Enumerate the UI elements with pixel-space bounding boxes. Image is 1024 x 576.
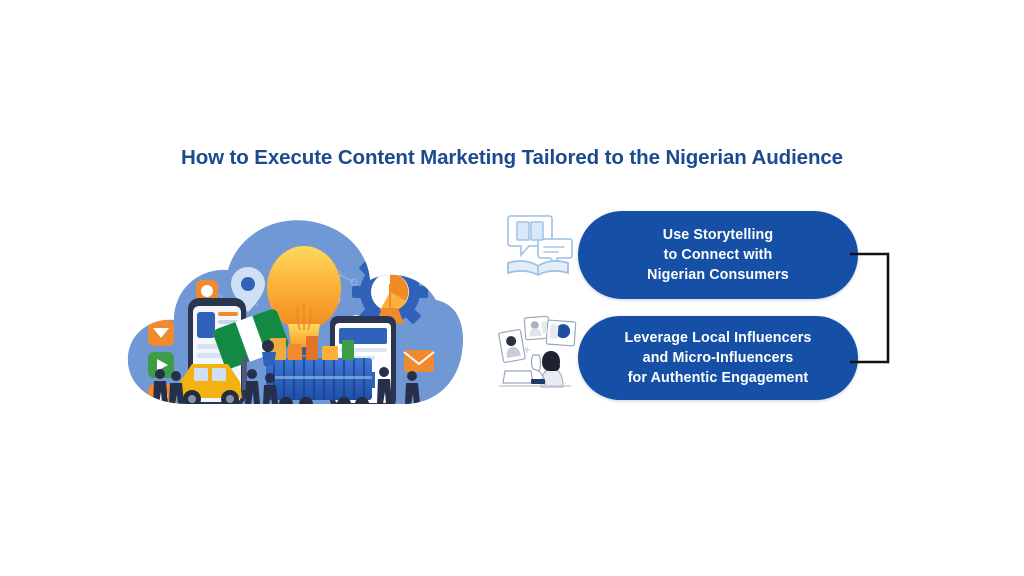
step-1-line-2: to Connect with bbox=[664, 247, 773, 263]
step-1-line-1: Use Storytelling bbox=[663, 227, 773, 243]
step-2-pill[interactable]: Leverage Local Influencers and Micro-Inf… bbox=[578, 316, 858, 400]
step-2-line-3: for Authentic Engagement bbox=[628, 370, 809, 386]
cloud-illustration bbox=[118, 206, 468, 410]
envelope-icon-1 bbox=[404, 350, 434, 372]
bracket-connector bbox=[848, 248, 896, 368]
storytelling-speech-bubble-book-icon bbox=[505, 211, 575, 277]
step-1-pill[interactable]: Use Storytelling to Connect with Nigeria… bbox=[578, 211, 858, 299]
infographic-canvas: How to Execute Content Marketing Tailore… bbox=[0, 0, 1024, 576]
step-2-line-1: Leverage Local Influencers bbox=[625, 330, 812, 346]
page-title: How to Execute Content Marketing Tailore… bbox=[0, 146, 1024, 170]
step-1-label: Use Storytelling to Connect with Nigeria… bbox=[633, 225, 803, 286]
step-2-line-2: and Micro-Influencers bbox=[643, 350, 794, 366]
step-1-line-3: Nigerian Consumers bbox=[647, 267, 789, 283]
step-2-label: Leverage Local Influencers and Micro-Inf… bbox=[611, 328, 826, 389]
influencer-person-photos-icon bbox=[497, 309, 579, 389]
